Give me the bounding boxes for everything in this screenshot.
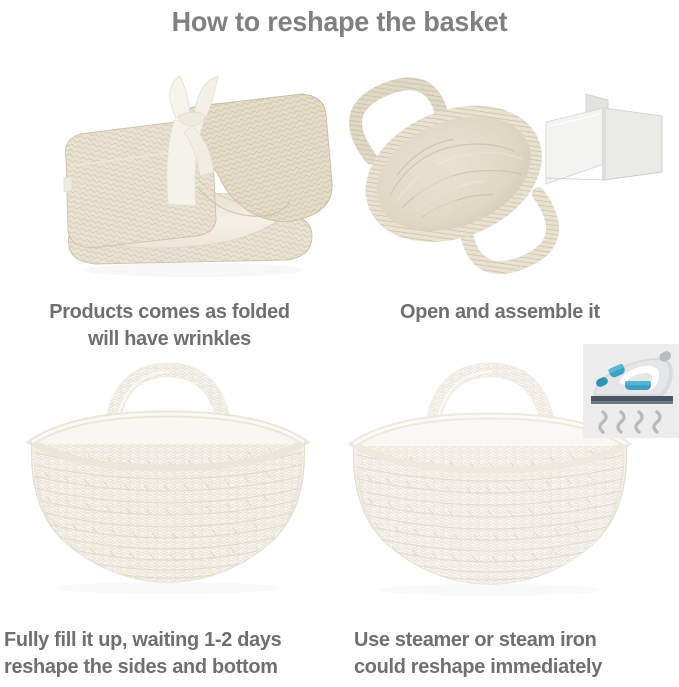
instruction-grid: Products comes as folded will have wrink… — [0, 48, 679, 687]
folded-basket-illustration — [52, 62, 342, 292]
divider-insert-illustration — [540, 88, 670, 208]
step-1-caption: Products comes as folded will have wrink… — [24, 298, 315, 353]
page-title: How to reshape the basket — [14, 0, 666, 40]
open-basket-illustration — [348, 56, 558, 288]
step-2-caption: Open and assemble it — [352, 298, 648, 325]
filled-basket-illustration: E bamboo — [18, 348, 318, 598]
step-4-caption: Use steamer or steam iron could reshape … — [354, 626, 669, 681]
step-3-caption: Fully fill it up, waiting 1-2 days resha… — [4, 626, 336, 681]
steam-iron-icon — [583, 344, 679, 438]
